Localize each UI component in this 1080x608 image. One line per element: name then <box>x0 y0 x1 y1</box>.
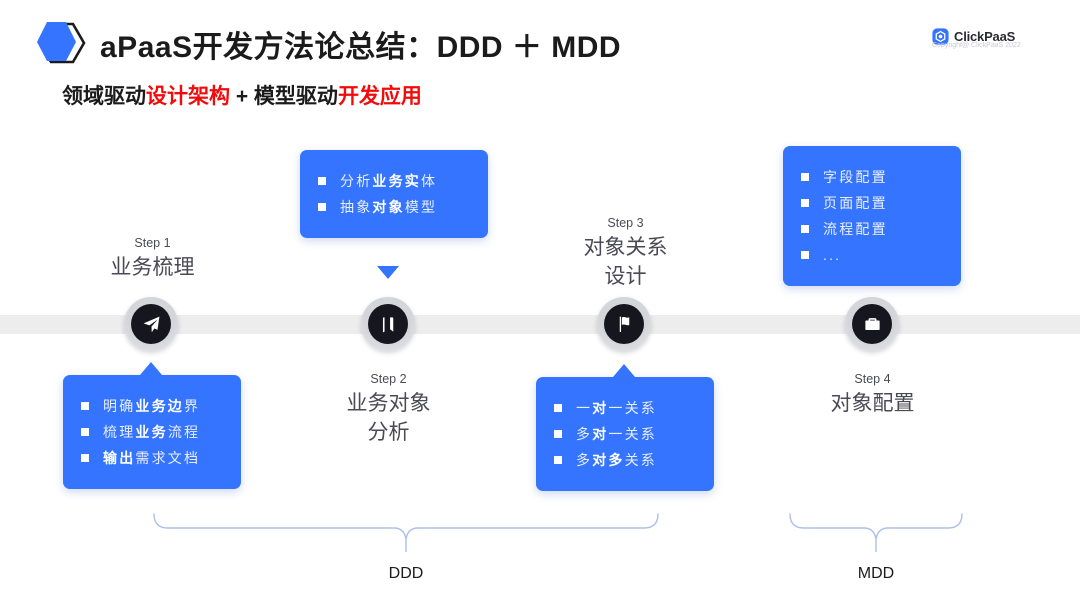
list-item: 页面配置 <box>801 190 941 216</box>
list-item: 多对一关系 <box>554 421 694 447</box>
step-number-1: Step 1 <box>75 233 230 253</box>
list-item: 多对多关系 <box>554 447 694 473</box>
book-icon <box>368 304 408 344</box>
callout-list-2: 分析业务实体 抽象对象模型 <box>318 168 468 220</box>
briefcase-icon <box>852 304 892 344</box>
list-item: 分析业务实体 <box>318 168 468 194</box>
subtitle-accent-1: 设计架构 <box>146 85 230 108</box>
item-strong: 业务实 <box>372 168 421 194</box>
bullet-icon <box>801 251 809 259</box>
item-suffix: 关系 <box>625 447 657 473</box>
callout-tail-4 <box>861 268 883 281</box>
brace-mdd <box>788 512 964 554</box>
item-prefix: 多 <box>576 447 592 473</box>
list-item: 抽象对象模型 <box>318 194 468 220</box>
bullet-icon <box>554 404 562 412</box>
step-caption-3: Step 3 对象关系 设计 <box>548 213 703 291</box>
item-prefix: 分析 <box>340 168 372 194</box>
item-strong: 对 <box>592 395 608 421</box>
item-prefix: 梳理 <box>103 419 135 445</box>
item-strong: 对象 <box>372 194 404 220</box>
item-suffix: 流程配置 <box>823 216 888 242</box>
list-item: 一对一关系 <box>554 395 694 421</box>
item-suffix: 流程 <box>168 419 200 445</box>
bullet-icon <box>318 177 326 185</box>
subtitle-accent-2: 开发应用 <box>338 85 422 108</box>
bullet-icon <box>554 456 562 464</box>
hexagon-logo-icon <box>30 20 92 66</box>
step-name-3: 对象关系 设计 <box>548 233 703 291</box>
page-subtitle: 领域驱动设计架构 + 模型驱动开发应用 <box>62 80 422 110</box>
list-item: 流程配置 <box>801 216 941 242</box>
step-number-3: Step 3 <box>548 213 703 233</box>
timeline-node-3[interactable] <box>597 297 651 351</box>
callout-tail-3 <box>613 364 635 377</box>
step-name-4: 对象配置 <box>795 389 950 418</box>
step-number-2: Step 2 <box>311 369 466 389</box>
list-item: 字段配置 <box>801 164 941 190</box>
item-prefix: 明确 <box>103 393 135 419</box>
item-suffix: 一关系 <box>608 421 657 447</box>
item-suffix: 页面配置 <box>823 190 888 216</box>
timeline-node-4[interactable] <box>845 297 899 351</box>
brace-ddd <box>152 512 660 554</box>
item-strong: 业务 <box>135 419 167 445</box>
subtitle-segment-2: + 模型驱动 <box>230 85 338 108</box>
item-strong: 输出 <box>103 445 135 471</box>
step-name-2: 业务对象 分析 <box>311 389 466 447</box>
flag-icon <box>604 304 644 344</box>
callout-tail-2 <box>377 266 399 279</box>
item-strong: 对多 <box>592 447 624 473</box>
bullet-icon <box>801 199 809 207</box>
bullet-icon <box>81 402 89 410</box>
item-strong: 业务边 <box>135 393 184 419</box>
item-suffix: 需求文档 <box>135 445 200 471</box>
item-prefix: 抽象 <box>340 194 372 220</box>
step-caption-2: Step 2 业务对象 分析 <box>311 369 466 447</box>
item-suffix: ... <box>823 242 841 268</box>
paper-plane-icon <box>131 304 171 344</box>
callout-list-1: 明确业务边界 梳理业务流程 输出需求文档 <box>81 393 221 471</box>
item-suffix: 一关系 <box>608 395 657 421</box>
list-item: 输出需求文档 <box>81 445 221 471</box>
item-prefix: 一 <box>576 395 592 421</box>
step-caption-4: Step 4 对象配置 <box>795 369 950 418</box>
callout-step-2: 分析业务实体 抽象对象模型 <box>300 150 488 238</box>
callout-step-4: 字段配置 页面配置 流程配置 ... <box>783 146 961 286</box>
callout-list-3: 一对一关系 多对一关系 多对多关系 <box>554 395 694 473</box>
list-item: ... <box>801 242 941 268</box>
copyright-text: Copyright@ ClickPaaS 2022 <box>932 42 1052 49</box>
bullet-icon <box>81 454 89 462</box>
bullet-icon <box>554 430 562 438</box>
list-item: 明确业务边界 <box>81 393 221 419</box>
item-suffix: 模型 <box>405 194 437 220</box>
step-number-4: Step 4 <box>795 369 950 389</box>
list-item: 梳理业务流程 <box>81 419 221 445</box>
page-header: aPaaS开发方法论总结：DDD ＋ MDD 领域驱动设计架构 + 模型驱动开发… <box>0 0 1080 130</box>
callout-list-4: 字段配置 页面配置 流程配置 ... <box>801 164 941 268</box>
item-suffix: 界 <box>184 393 200 419</box>
bullet-icon <box>81 428 89 436</box>
item-suffix: 体 <box>421 168 437 194</box>
timeline-node-2[interactable] <box>361 297 415 351</box>
subtitle-segment-1: 领域驱动 <box>62 85 146 108</box>
bullet-icon <box>801 173 809 181</box>
step-name-1: 业务梳理 <box>75 253 230 282</box>
bullet-icon <box>318 203 326 211</box>
callout-step-1: 明确业务边界 梳理业务流程 输出需求文档 <box>63 375 241 489</box>
callout-tail-1 <box>140 362 162 375</box>
bullet-icon <box>801 225 809 233</box>
brand-logo: ClickPaaS Copyright@ ClickPaaS 2022 <box>932 28 1052 49</box>
item-suffix: 字段配置 <box>823 164 888 190</box>
brace-label-mdd: MDD <box>806 565 946 583</box>
item-strong: 对 <box>592 421 608 447</box>
page-title: aPaaS开发方法论总结：DDD ＋ MDD <box>100 22 621 66</box>
timeline-node-1[interactable] <box>124 297 178 351</box>
brace-label-ddd: DDD <box>336 565 476 583</box>
step-caption-1: Step 1 业务梳理 <box>75 233 230 282</box>
callout-step-3: 一对一关系 多对一关系 多对多关系 <box>536 377 714 491</box>
item-prefix: 多 <box>576 421 592 447</box>
